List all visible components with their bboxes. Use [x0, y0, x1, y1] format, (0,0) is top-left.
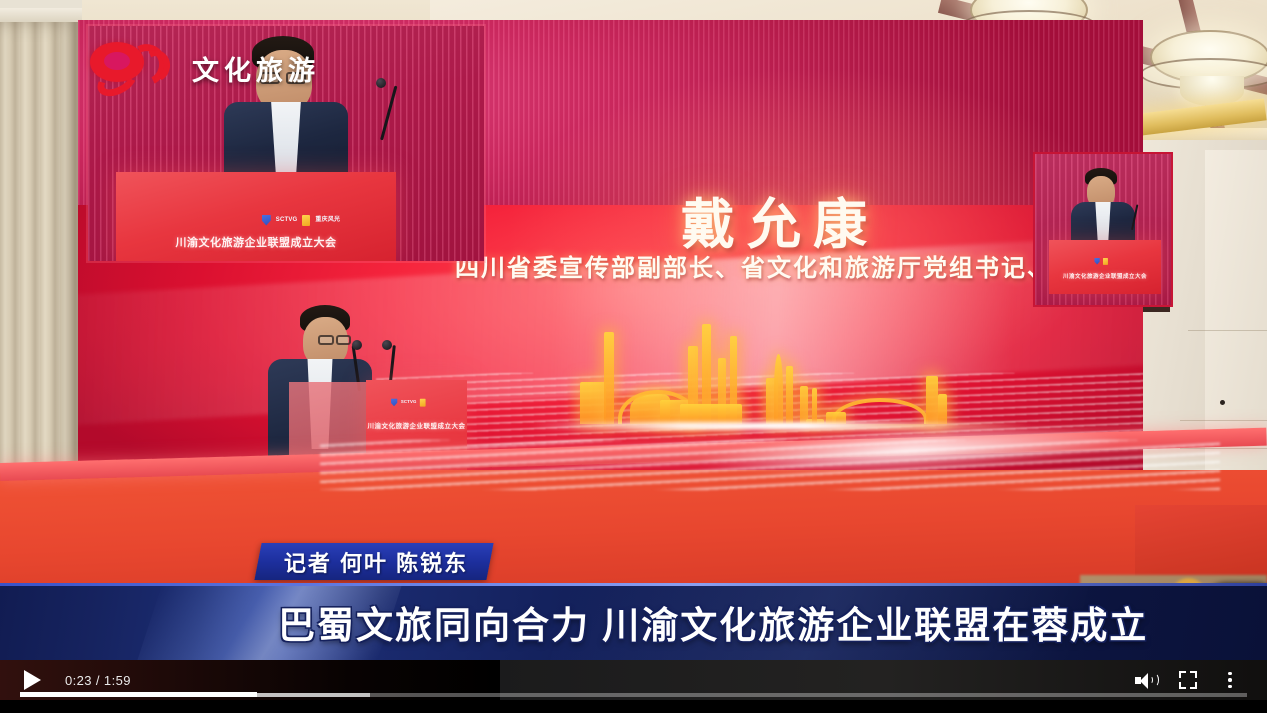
microphone-head — [382, 340, 392, 350]
video-player: 戴允康 四川省委宣传部副部长、省文化和旅游厅党组书记、厅长 — [0, 0, 1267, 713]
wall-fixture-icon — [1220, 400, 1225, 405]
podium-logo-text-1: SCTVG — [276, 217, 298, 223]
channel-logo: 文化旅游 — [90, 40, 320, 96]
podium-event-title: 川渝文化旅游企业联盟成立大会 — [366, 420, 467, 430]
podium-sponsor-logos: SCTVG 重庆风光 — [246, 212, 356, 228]
led-speaker-title: 四川省委宣传部副部长、省文化和旅游厅党组书记、厅长 — [440, 248, 1120, 283]
time-display: 0:23 / 1:59 — [65, 673, 131, 688]
lower-third-banner: 四川 SI CHUAN 报道 文旅 巴蜀文旅同向合力 川渝文化旅游企业联盟在蓉成… — [0, 583, 1267, 660]
reporter-credit: 记者 何叶 陈锐东 — [254, 543, 493, 580]
microphone-head — [352, 340, 362, 350]
player-control-bar: 0:23 / 1:59 — [0, 660, 1267, 713]
chongqing-logo-icon — [302, 215, 310, 226]
sctv-logo-icon — [1094, 258, 1100, 265]
podium-sponsor-logos: SCTVG — [386, 398, 431, 407]
reporter-credit-text: 记者 何叶 陈锐东 — [284, 546, 468, 578]
podium-side-view: 川渝文化旅游企业联盟成立大会 — [1049, 240, 1161, 294]
sctv-logo-icon — [391, 398, 397, 406]
progress-bar[interactable] — [20, 691, 1247, 698]
chongqing-logo-icon — [1103, 258, 1108, 265]
wall-panel-line — [1180, 420, 1267, 421]
progress-played — [20, 692, 257, 697]
video-frame[interactable]: 戴允康 四川省委宣传部副部长、省文化和旅游厅党组书记、厅长 — [0, 0, 1267, 660]
sctv-logo-icon — [262, 215, 271, 226]
channel-swoosh-icon — [90, 40, 182, 96]
podium-closeup: SCTVG 重庆风光 川渝文化旅游企业联盟成立大会 — [116, 172, 396, 261]
play-icon[interactable] — [24, 670, 41, 690]
channel-name: 文化旅游 — [192, 49, 320, 88]
headline-text: 巴蜀文旅同向合力 川渝文化旅游企业联盟在蓉成立 — [278, 583, 1148, 660]
led-side-screen: 川渝文化旅游企业联盟成立大会 — [1033, 152, 1173, 307]
podium-event-title: 川渝文化旅游企业联盟成立大会 — [1049, 272, 1161, 280]
podium-logo-text: SCTVG — [401, 400, 417, 405]
wall-panel-line — [1188, 330, 1267, 331]
exit-fullscreen-icon — [1179, 671, 1197, 689]
podium-sponsor-logos — [1085, 258, 1117, 264]
more-options-icon — [1228, 672, 1232, 689]
microphone-head — [376, 78, 386, 88]
chongqing-logo-icon — [420, 398, 426, 406]
city-skyline-graphic — [560, 300, 1000, 440]
volume-icon — [1135, 672, 1157, 689]
podium-logo-text-2: 重庆风光 — [315, 217, 340, 223]
podium-event-title: 川渝文化旅游企业联盟成立大会 — [116, 234, 396, 250]
